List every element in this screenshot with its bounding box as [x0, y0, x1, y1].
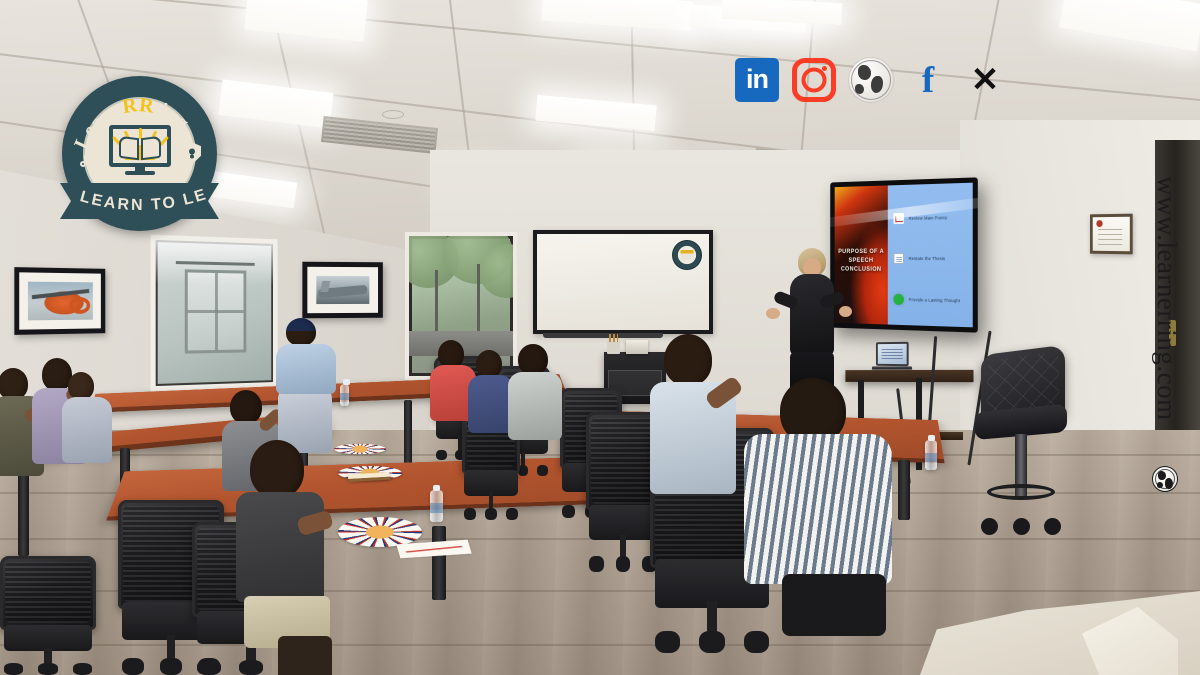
- slide-bullet-label: Review Main Points: [909, 215, 947, 221]
- drafting-stool[interactable]: [975, 350, 1067, 535]
- facebook-icon[interactable]: f: [906, 58, 950, 102]
- document-icon: [893, 253, 903, 264]
- slide-title-panel: PURPOSE OF A SPEECH CONCLUSION: [835, 185, 888, 324]
- whiteboard-logo-icon: [672, 240, 702, 270]
- framed-certificate: [1090, 214, 1133, 255]
- green-dot-icon: [893, 294, 903, 305]
- water-bottle: [430, 490, 443, 522]
- monitor-icon: [109, 125, 171, 175]
- screenshot-canvas: PURPOSE OF A SPEECH CONCLUSION Review Ma…: [0, 0, 1200, 675]
- table-leg: [18, 470, 29, 556]
- x-glyph: ✕: [971, 63, 1000, 97]
- framed-photo-helicopter: [14, 267, 105, 335]
- globe-icon: [1152, 466, 1178, 492]
- student: [744, 378, 894, 656]
- table-leg: [898, 460, 910, 520]
- wall-mounted-television: PURPOSE OF A SPEECH CONCLUSION Review Ma…: [830, 177, 978, 332]
- presenter-torso: [790, 274, 834, 356]
- student: [232, 440, 328, 675]
- slide-bullet-panel: Review Main Points Restate the Thesis Pr…: [888, 183, 973, 328]
- student: [276, 318, 338, 390]
- social-icon-row: in f ✕: [735, 58, 1007, 102]
- network-nodes-icon: [80, 141, 102, 167]
- linkedin-icon[interactable]: in: [735, 58, 779, 102]
- globe-icon[interactable]: [849, 58, 893, 102]
- framed-photo-aircraft: [302, 262, 383, 319]
- presentation-slide: PURPOSE OF A SPEECH CONCLUSION Review Ma…: [835, 183, 973, 328]
- table-leg: [404, 400, 412, 464]
- smoke-detector-icon: [382, 110, 404, 119]
- table-leg: [432, 526, 446, 600]
- stool-base: [981, 511, 1061, 535]
- presenter: [774, 248, 842, 398]
- laptop[interactable]: [872, 342, 912, 372]
- student: [62, 372, 114, 462]
- slide-bullet: Provide a Lasting Thought: [893, 294, 967, 307]
- slide-bullet-label: Provide a Lasting Thought: [909, 297, 961, 303]
- student: [508, 344, 564, 440]
- water-bottle: [925, 440, 937, 470]
- brand-logo: Learne RR ing: [62, 76, 217, 231]
- slide-bullet-label: Restate the Thesis: [909, 256, 946, 261]
- student: [650, 334, 738, 494]
- marker-cup: [607, 341, 620, 354]
- paper-plate: [334, 444, 386, 454]
- interior-window: [151, 235, 278, 392]
- website-url[interactable]: www.learnerring.com: [1151, 176, 1182, 421]
- slide-bullet: Restate the Thesis: [893, 253, 967, 264]
- linkedin-glyph: in: [746, 66, 768, 93]
- open-book-icon: [119, 137, 161, 159]
- water-bottle: [340, 384, 349, 406]
- whiteboard: [533, 230, 713, 334]
- tissue-box: [626, 340, 648, 354]
- presenter-left-hand: [766, 308, 780, 319]
- stool-footring: [987, 484, 1055, 500]
- chart-icon: [893, 213, 903, 224]
- whiteboard-marker-tray: [543, 333, 663, 338]
- office-chair[interactable]: [0, 556, 96, 675]
- slide-title: PURPOSE OF A SPEECH CONCLUSION: [838, 248, 884, 275]
- slide-bullet: Review Main Points: [893, 212, 967, 224]
- logo-banner: LEARN TO LEAD: [56, 177, 223, 225]
- x-icon[interactable]: ✕: [963, 58, 1007, 102]
- presenter-right-hand: [839, 306, 852, 317]
- facebook-glyph: f: [922, 62, 934, 99]
- instagram-icon[interactable]: [792, 58, 836, 102]
- office-chair[interactable]: [586, 412, 660, 572]
